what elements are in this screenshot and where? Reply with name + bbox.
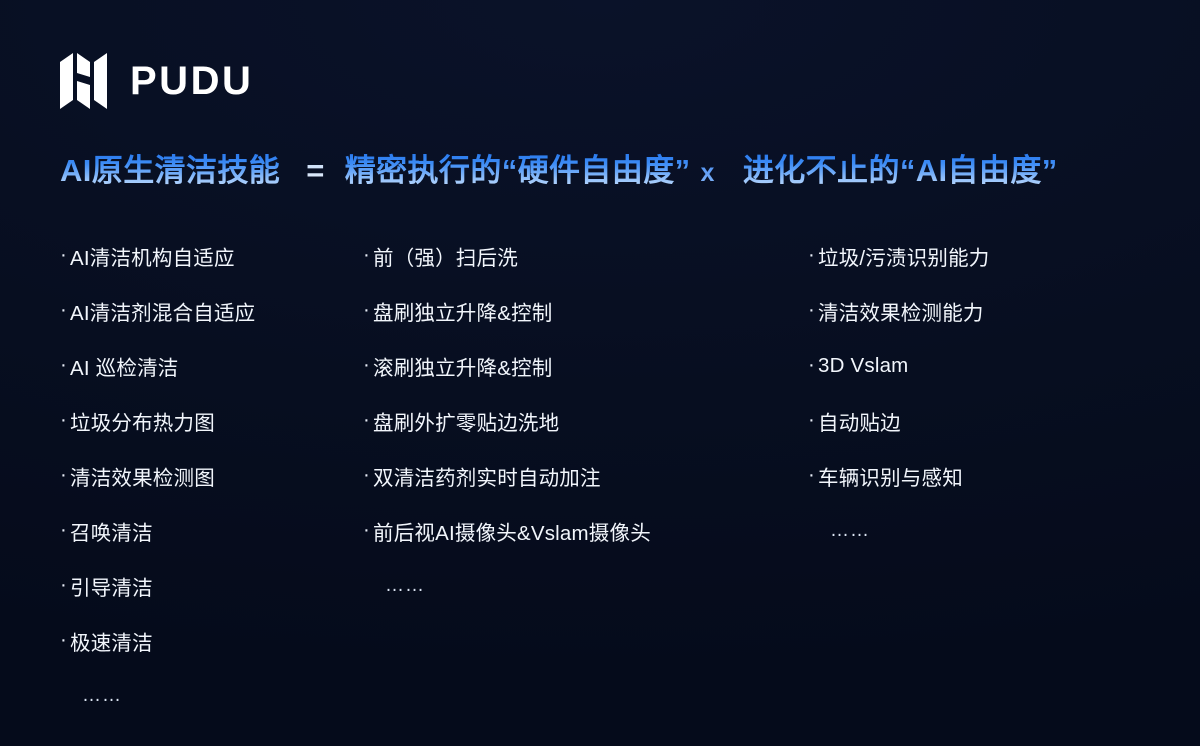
list-more-label: …… [830,520,870,542]
list-item-label: 车辆识别与感知 [818,461,963,491]
column-ai-freedom: ·垃圾/污渍识别能力 ·清洁效果检测能力 ·3D Vslam ·自动贴边 ·车辆… [808,228,1168,723]
feature-columns: ·AI清洁机构自适应 ·AI清洁剂混合自适应 ·AI 巡检清洁 ·垃圾分布热力图… [60,228,1170,723]
bullet-icon: · [60,465,69,486]
list-item: ·清洁效果检测图 [60,448,363,503]
list-item-label: 3D Vslam [818,354,908,378]
list-item: ·引导清洁 [60,558,363,613]
list-item-label: 极速清洁 [70,626,153,656]
brand-wordmark: PUDU [130,61,253,101]
slide-canvas: PUDU AI原生清洁技能 = 精密执行的“硬件自由度” x 进化不止的“AI自… [0,0,1200,746]
bullet-icon: · [363,520,372,541]
bullet-icon: · [363,410,372,431]
list-item-label: 双清洁药剂实时自动加注 [373,461,601,491]
headline-part-3: 进化不止的“AI自由度” [743,148,1058,194]
bullet-icon: · [363,300,372,321]
list-item-label: AI清洁机构自适应 [70,241,235,271]
list-item-label: 前后视AI摄像头&Vslam摄像头 [373,516,651,546]
list-more-label: …… [82,685,122,707]
list-item-label: 滚刷独立升降&控制 [373,351,552,381]
list-more-indicator: …… [808,503,1168,558]
pudu-panel-h-logo-icon [60,53,112,109]
bullet-icon: · [808,245,817,266]
list-item: ·自动贴边 [808,393,1168,448]
list-item: ·3D Vslam [808,338,1168,393]
bullet-icon: · [60,410,69,431]
list-more-indicator: …… [60,668,363,723]
list-item-label: 前（强）扫后洗 [373,241,518,271]
bullet-icon: · [60,520,69,541]
list-item: ·召唤清洁 [60,503,363,558]
list-item: ·滚刷独立升降&控制 [363,338,808,393]
list-item: ·盘刷独立升降&控制 [363,283,808,338]
bullet-icon: · [60,575,69,596]
headline-part-1: AI原生清洁技能 [60,148,280,194]
bullet-icon: · [808,410,817,431]
list-item: ·双清洁药剂实时自动加注 [363,448,808,503]
list-item-label: 盘刷外扩零贴边洗地 [373,406,559,436]
list-item: ·前（强）扫后洗 [363,228,808,283]
bullet-icon: · [808,300,817,321]
bullet-icon: · [808,355,817,376]
bullet-icon: · [363,465,372,486]
list-more-indicator: …… [363,558,808,613]
bullet-icon: · [60,300,69,321]
column-ai-native-skills: ·AI清洁机构自适应 ·AI清洁剂混合自适应 ·AI 巡检清洁 ·垃圾分布热力图… [60,228,363,723]
bullet-icon: · [60,355,69,376]
bullet-icon: · [363,245,372,266]
list-item-label: 清洁效果检测图 [70,461,215,491]
bullet-icon: · [363,355,372,376]
column-hardware-freedom: ·前（强）扫后洗 ·盘刷独立升降&控制 ·滚刷独立升降&控制 ·盘刷外扩零贴边洗… [363,228,808,723]
list-item: ·盘刷外扩零贴边洗地 [363,393,808,448]
list-item-label: 垃圾/污渍识别能力 [818,241,990,271]
list-item: ·清洁效果检测能力 [808,283,1168,338]
list-item-label: 召唤清洁 [70,516,153,546]
headline-part-2: 精密执行的“硬件自由度” [345,148,691,194]
bullet-icon: · [60,245,69,266]
brand-logo: PUDU [60,52,253,110]
list-item-label: 清洁效果检测能力 [818,296,984,326]
headline-operator-equals: = [306,148,325,194]
headline-operator-times: x [701,150,715,196]
list-item: ·前后视AI摄像头&Vslam摄像头 [363,503,808,558]
list-item: ·AI清洁剂混合自适应 [60,283,363,338]
page-title: AI原生清洁技能 = 精密执行的“硬件自由度” x 进化不止的“AI自由度” [60,148,1170,194]
list-item-label: 引导清洁 [70,571,153,601]
list-more-label: …… [385,575,425,597]
bullet-icon: · [60,630,69,651]
bullet-icon: · [808,465,817,486]
list-item: ·车辆识别与感知 [808,448,1168,503]
list-item: ·垃圾/污渍识别能力 [808,228,1168,283]
list-item-label: 盘刷独立升降&控制 [373,296,552,326]
list-item-label: 垃圾分布热力图 [70,406,215,436]
list-item-label: AI 巡检清洁 [70,351,178,381]
list-item-label: 自动贴边 [818,406,901,436]
list-item: ·AI 巡检清洁 [60,338,363,393]
list-item: ·AI清洁机构自适应 [60,228,363,283]
list-item: ·极速清洁 [60,613,363,668]
list-item: ·垃圾分布热力图 [60,393,363,448]
list-item-label: AI清洁剂混合自适应 [70,296,255,326]
